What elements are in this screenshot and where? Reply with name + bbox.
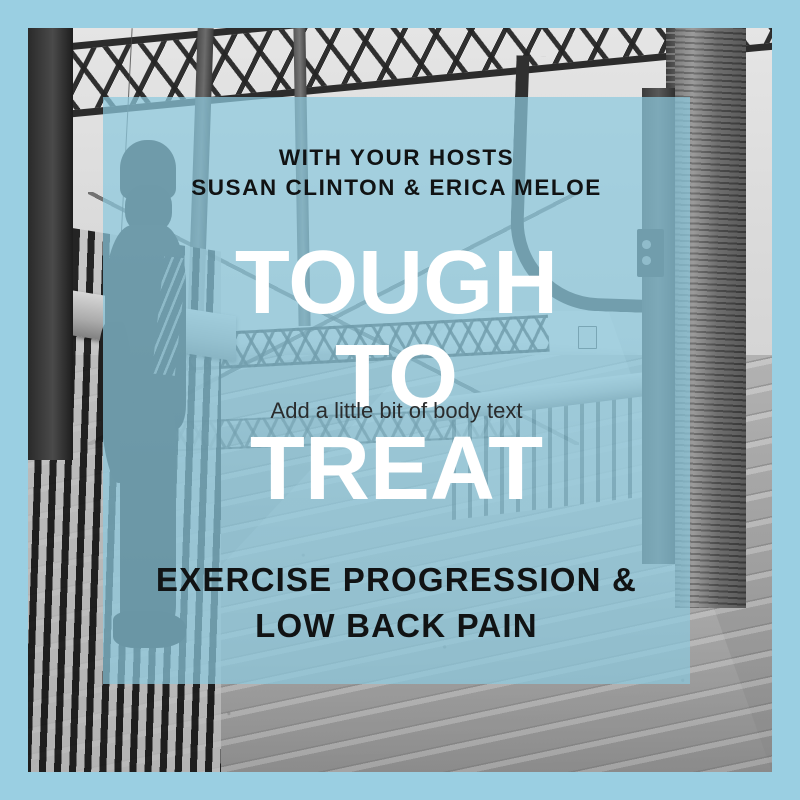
body-placeholder-text: Add a little bit of body text (103, 398, 690, 424)
text-layer: WITH YOUR HOSTS SUSAN CLINTON & ERICA ME… (0, 0, 800, 800)
episode-subject: EXERCISE PROGRESSION & LOW BACK PAIN (103, 557, 690, 649)
hosts-line-2: SUSAN CLINTON & ERICA MELOE (103, 173, 690, 203)
hosts-line-1: WITH YOUR HOSTS (103, 143, 690, 173)
poster-canvas: WITH YOUR HOSTS SUSAN CLINTON & ERICA ME… (0, 0, 800, 800)
title-word-tough: TOUGH (103, 238, 690, 328)
subject-line-1: EXERCISE PROGRESSION & (103, 557, 690, 603)
title-word-treat: TREAT (103, 424, 690, 514)
hosts-credit: WITH YOUR HOSTS SUSAN CLINTON & ERICA ME… (103, 143, 690, 203)
subject-line-2: LOW BACK PAIN (103, 603, 690, 649)
